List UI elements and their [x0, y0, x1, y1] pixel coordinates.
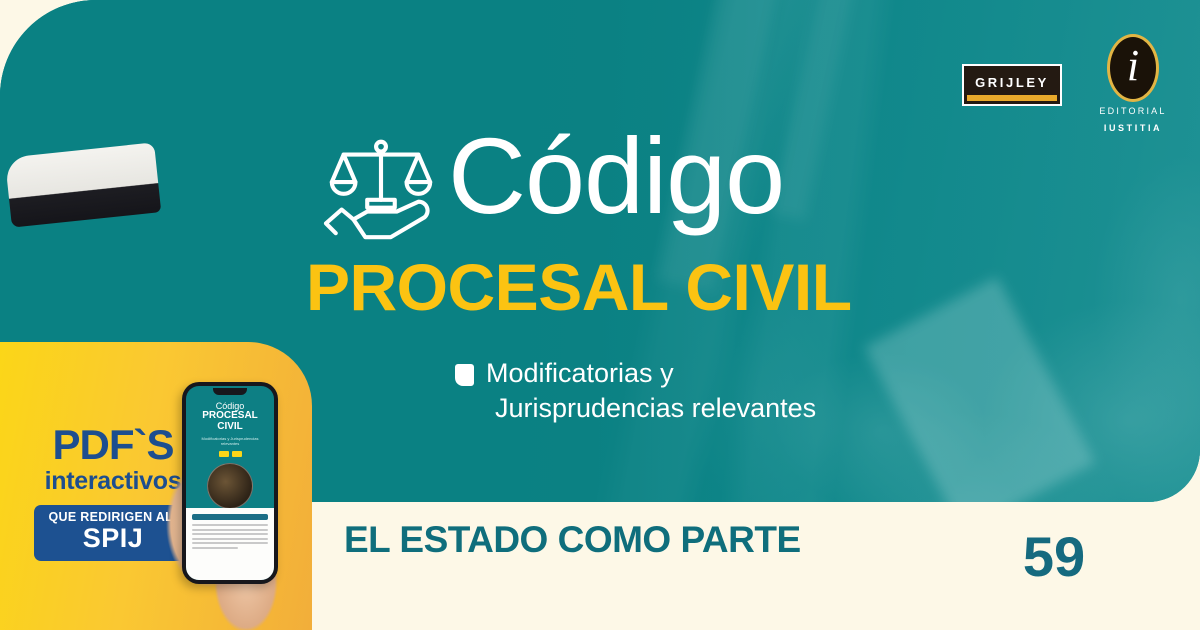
phone-cover-subtitle-2: CIVIL	[192, 422, 268, 433]
phone-content-text-line	[192, 524, 268, 526]
promo-headline: PDF`S	[34, 424, 192, 466]
footer-title: EL ESTADO COMO PARTE	[344, 519, 801, 561]
phone-screen: Código PROCESAL CIVIL Modificatorias y J…	[186, 386, 274, 580]
phone-content-text-line	[192, 542, 268, 544]
hero-description-line-2: Jurisprudencias relevantes	[495, 391, 816, 426]
grijley-logo-accent-bar	[967, 95, 1057, 101]
phone-cover-photo	[207, 463, 253, 509]
phone-mockup[interactable]: Código PROCESAL CIVIL Modificatorias y J…	[182, 382, 278, 584]
phone-content-heading-bar	[192, 514, 268, 520]
grijley-logo[interactable]: GRIJLEY	[962, 64, 1062, 106]
hero-description: Modificatorias y Jurisprudencias relevan…	[455, 356, 816, 426]
iustitia-logo[interactable]: i EDITORIAL IUSTITIA	[1096, 34, 1170, 135]
hero-description-line-1: Modificatorias y	[486, 356, 674, 391]
grijley-logo-text: GRIJLEY	[975, 76, 1049, 89]
hero-description-row-1: Modificatorias y	[455, 356, 816, 391]
banner-root: GRIJLEY i EDITORIAL IUSTITIA Código PROC…	[0, 0, 1200, 630]
phone-content-text-line	[192, 533, 268, 535]
phone-content-text-line	[192, 529, 268, 531]
phone-content-text-line	[192, 547, 238, 549]
page-subtitle: PROCESAL CIVIL	[306, 254, 852, 320]
phone-content-text-line	[192, 538, 268, 540]
phone-content-pane	[186, 508, 274, 580]
phone-cover-subtitle: PROCESAL	[192, 411, 268, 422]
phone-cover-note: Modificatorias y Jurisprudencias relevan…	[192, 436, 268, 446]
scales-of-justice-on-hand-icon	[322, 130, 440, 242]
hero-description-row-2: Jurisprudencias relevantes	[455, 391, 816, 426]
phone-cover-badge	[219, 451, 229, 457]
page-title: Código	[448, 122, 784, 230]
phone-notch	[213, 388, 247, 395]
phone-cover-badge	[232, 451, 242, 457]
phone-cover-badges	[192, 451, 268, 457]
phone-cover-header: Código PROCESAL CIVIL Modificatorias y J…	[186, 386, 274, 527]
footer-number: 59	[1023, 529, 1085, 585]
logo-row: GRIJLEY i EDITORIAL IUSTITIA	[962, 34, 1170, 135]
iustitia-label-editorial: EDITORIAL	[1096, 105, 1170, 119]
document-page-icon	[455, 364, 474, 386]
iustitia-label-iustitia: IUSTITIA	[1096, 122, 1170, 136]
iustitia-monogram: i	[1127, 44, 1139, 88]
iustitia-oval-badge: i	[1107, 34, 1159, 102]
